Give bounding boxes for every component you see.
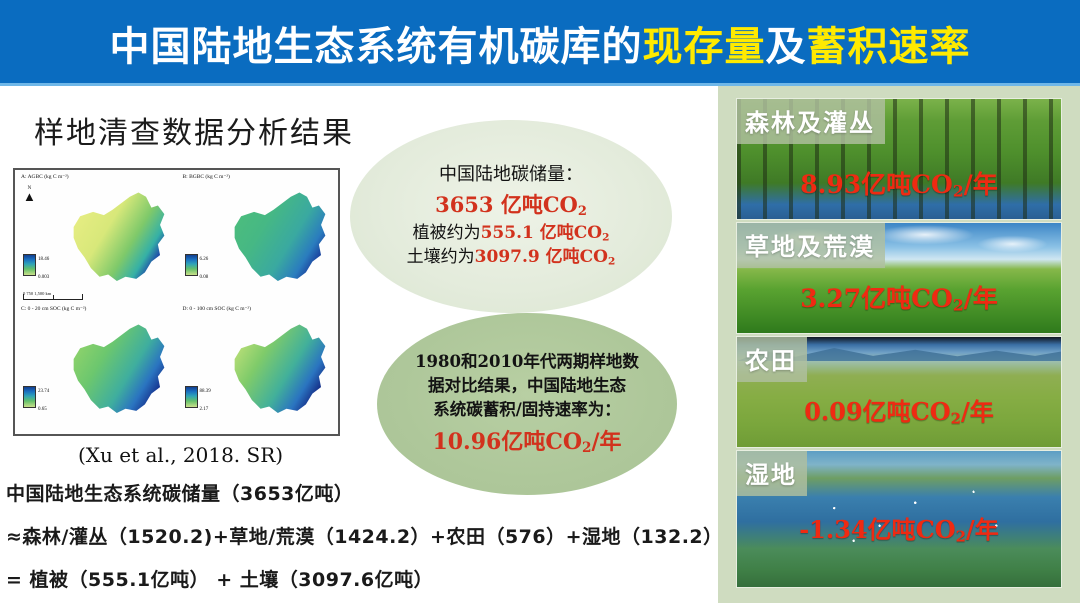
colorbar-a-high: 18.46 [38,257,49,262]
rate-line-2: 据对比结果，中国陆地生态 [428,374,626,398]
china-map-shape-a [65,184,173,296]
figure-citation: (Xu et al., 2018. SR) [78,443,283,467]
north-arrow-icon: N ▲ [23,186,36,202]
photo-tag-farmland: 农田 [737,337,807,382]
photo-tag-grassland: 草地及荒漠 [737,223,885,268]
grassland-value-text: 3.27亿吨CO [800,284,953,313]
stock-total-text: 3653 亿吨CO [435,192,578,217]
photo-value-farmland: 0.09亿吨CO2/年 [737,392,1061,427]
colorbar-c-low: 0.65 [38,407,47,412]
wetland-value-suffix: /年 [966,515,999,544]
wetland-value-sub: 2 [956,527,966,545]
map-figure: A: AGBC (kg C m⁻²) N ▲ 18.46 0.003 0 750… [13,168,340,436]
panel-b-label: B: BGBC (kg C m⁻²) [183,174,230,180]
title-part-2: 及 [766,14,807,72]
panel-c-label: C: 0 - 20 cm SOC (kg C m⁻²) [21,306,86,312]
rate-value-suffix: /年 [592,429,622,455]
photo-tag-forest: 森林及灌丛 [737,99,885,144]
summary-line-2: ≈森林/灌丛（1520.2)+草地/荒漠（1424.2）+农田（576）+湿地（… [6,522,718,549]
photo-card-wetland: 湿地 -1.34亿吨CO2/年 [736,450,1062,588]
map-panel-a: A: AGBC (kg C m⁻²) N ▲ 18.46 0.003 0 750… [15,170,177,302]
rate-value-sub: 2 [582,440,591,456]
grassland-value-suffix: /年 [964,284,998,313]
forest-value-suffix: /年 [964,170,998,199]
stock-vegetation-prefix: 植被约为 [413,223,481,243]
ecosystem-photo-strip: 森林及灌丛 8.93亿吨CO2/年 草地及荒漠 3.27亿吨CO2/年 农田 0… [718,86,1080,603]
map-panel-c: C: 0 - 20 cm SOC (kg C m⁻²) 23.74 0.65 [15,302,177,434]
rate-line-1: 1980和2010年代两期样地数 [415,350,639,374]
title-part-1: 中国陆地生态系统有机碳库的 [110,14,643,72]
summary-text-block: 中国陆地生态系统碳储量（3653亿吨） ≈森林/灌丛（1520.2)+草地/荒漠… [6,479,718,608]
carbon-rate-callout: 1980和2010年代两期样地数 据对比结果，中国陆地生态 系统碳蓄积/固持速率… [377,313,677,495]
panel-d-label: D: 0 - 100 cm SOC (kg C m⁻²) [183,306,251,312]
photo-value-forest: 8.93亿吨CO2/年 [737,165,1061,201]
stock-soil: 土壤约为3097.9 亿吨CO2 [407,246,616,269]
stock-vegetation: 植被约为555.1 亿吨CO2 [413,222,610,245]
rate-value: 10.96亿吨CO2/年 [432,428,621,458]
china-map-shape-b [226,184,334,296]
rate-value-text: 10.96亿吨CO [432,429,582,455]
forest-value-text: 8.93亿吨CO [800,170,953,199]
stock-soil-prefix: 土壤约为 [407,247,475,267]
stock-vegetation-value: 555.1 亿吨CO [481,223,603,243]
colorbar-d-low: 2.17 [200,407,209,412]
colorbar-c-high: 23.74 [38,389,49,394]
farmland-value-suffix: /年 [961,397,994,426]
stock-vegetation-sub: 2 [602,231,609,243]
stock-heading: 中国陆地碳储量： [439,163,583,187]
colorbar-a-low: 0.003 [38,275,49,280]
panel-a-label: A: AGBC (kg C m⁻²) [21,174,69,180]
title-highlight-1: 现存量 [643,14,766,72]
slide-header: 中国陆地生态系统有机碳库的现存量及蓄积速率 [0,0,1080,86]
forest-value-sub: 2 [953,181,964,200]
colorbar-b [185,254,198,276]
wetland-value-text: -1.34亿吨CO [799,515,955,544]
colorbar-b-high: 6.26 [200,257,209,262]
colorbar-d-high: 88.39 [200,389,211,394]
rate-line-3: 系统碳蓄积/固持速率为： [433,398,621,422]
summary-line-3: = 植被（555.1亿吨） + 土壤（3097.6亿吨） [6,565,718,592]
photo-value-grassland: 3.27亿吨CO2/年 [737,279,1061,315]
photo-tag-wetland: 湿地 [737,451,807,496]
scale-bar-ticks [23,294,83,300]
china-map-shape-d [226,316,334,428]
stock-soil-sub: 2 [608,255,615,267]
section-heading: 样地清查数据分析结果 [34,108,354,152]
colorbar-a [23,254,36,276]
page-title: 中国陆地生态系统有机碳库的现存量及蓄积速率 [0,0,1080,86]
summary-line-1: 中国陆地生态系统碳储量（3653亿吨） [6,479,718,506]
colorbar-c [23,386,36,408]
carbon-stock-callout: 中国陆地碳储量： 3653 亿吨CO2 植被约为555.1 亿吨CO2 土壤约为… [350,120,672,313]
grassland-value-sub: 2 [953,295,964,314]
title-highlight-2: 蓄积速率 [807,14,971,72]
photo-card-forest: 森林及灌丛 8.93亿吨CO2/年 [736,98,1062,220]
stock-total: 3653 亿吨CO2 [435,191,587,220]
china-map-shape-c [65,316,173,428]
colorbar-d [185,386,198,408]
map-panel-b: B: BGBC (kg C m⁻²) 6.26 0.08 [177,170,339,302]
photo-card-grassland: 草地及荒漠 3.27亿吨CO2/年 [736,222,1062,334]
farmland-value-sub: 2 [951,409,961,427]
stock-total-sub: 2 [578,203,587,218]
photo-value-wetland: -1.34亿吨CO2/年 [737,510,1061,545]
stock-soil-value: 3097.9 亿吨CO [475,247,608,267]
photo-card-farmland: 农田 0.09亿吨CO2/年 [736,336,1062,448]
map-panel-d: D: 0 - 100 cm SOC (kg C m⁻²) 88.39 2.17 [177,302,339,434]
farmland-value-text: 0.09亿吨CO [804,397,950,426]
north-arrow-glyph: ▲ [23,192,36,202]
colorbar-b-low: 0.08 [200,275,209,280]
